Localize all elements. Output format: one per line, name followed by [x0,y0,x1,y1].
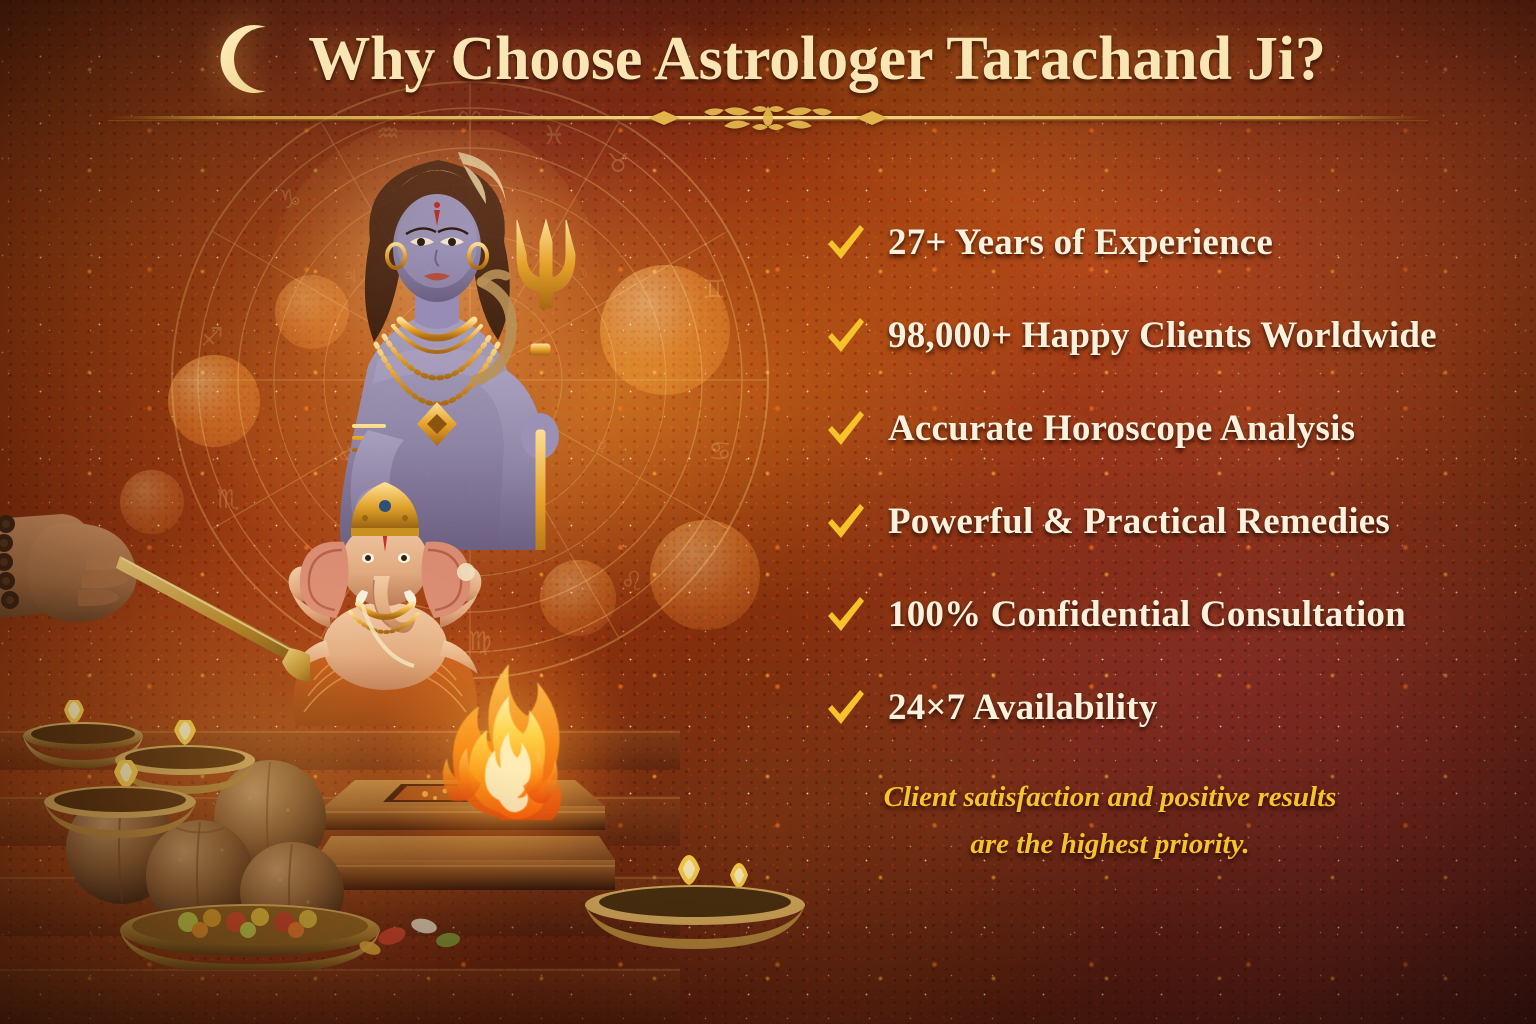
list-item-label: Powerful & Practical Remedies [888,500,1390,543]
poster-canvas: ♈ ♉ ♊ ♋ ♌ ♍ ♎ ♏ ♐ ♑ ♒ ♓ ☼ ☽ ☿ ♀ ♂ ♃ [0,0,1536,1024]
list-item[interactable]: 98,000+ Happy Clients Worldwide [824,289,1524,382]
list-item-label: 27+ Years of Experience [888,221,1273,264]
poster-header: Why Choose Astrologer Tarachand Ji? [0,18,1536,100]
check-icon [824,594,866,636]
page-title: Why Choose Astrologer Tarachand Ji? [308,24,1325,95]
list-item[interactable]: 100% Confidential Consultation [824,568,1524,661]
check-icon [824,315,866,357]
tagline: Client satisfaction and positive results… [790,774,1430,868]
list-item-label: Accurate Horoscope Analysis [888,407,1355,450]
list-item[interactable]: Accurate Horoscope Analysis [824,382,1524,475]
check-icon [824,501,866,543]
list-item-label: 24×7 Availability [888,686,1157,729]
tagline-line-1: Client satisfaction and positive results [790,774,1430,821]
tagline-line-2: are the highest priority. [790,821,1430,868]
list-item-label: 100% Confidential Consultation [888,593,1406,636]
check-icon [824,408,866,450]
check-icon [824,687,866,729]
list-item[interactable]: 27+ Years of Experience [824,196,1524,289]
benefits-list: 27+ Years of Experience 98,000+ Happy Cl… [824,196,1524,754]
ornamental-divider-icon [108,100,1428,136]
list-item[interactable]: Powerful & Practical Remedies [824,475,1524,568]
check-icon [824,222,866,264]
list-item[interactable]: 24×7 Availability [824,661,1524,754]
crescent-moon-icon [210,21,286,97]
list-item-label: 98,000+ Happy Clients Worldwide [888,314,1437,357]
